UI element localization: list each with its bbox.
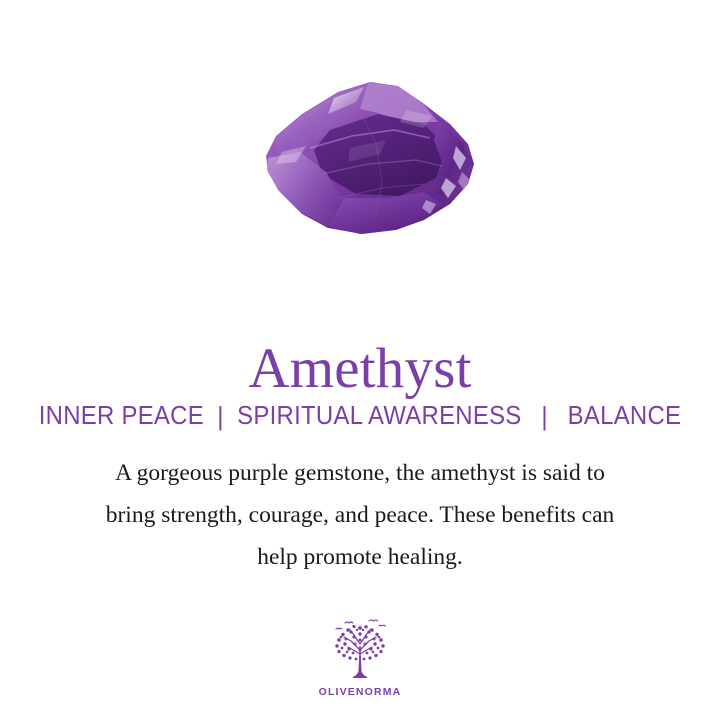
keyword-strip: INNER PEACE | SPIRITUAL AWARENESS | BALA… [29, 400, 691, 430]
tree-of-life-icon [324, 616, 396, 684]
amethyst-crystal-illustration [210, 52, 510, 252]
keyword-spiritual-awareness: SPIRITUAL AWARENESS [237, 400, 521, 430]
keyword-separator-2: | [528, 401, 560, 431]
keyword-balance: BALANCE [568, 400, 682, 430]
description-text: A gorgeous purple gemstone, the amethyst… [50, 452, 670, 578]
keyword-inner-peace: INNER PEACE [39, 400, 204, 430]
page-title: Amethyst [0, 340, 720, 397]
amethyst-info-card: Amethyst INNER PEACE | SPIRITUAL AWARENE… [0, 0, 720, 720]
keyword-separator-1: | [211, 401, 230, 431]
description-line-2: bring strength, courage, and peace. Thes… [50, 494, 670, 536]
description-line-1: A gorgeous purple gemstone, the amethyst… [50, 452, 670, 494]
gemstone-image [0, 52, 720, 267]
description-line-3: help promote healing. [50, 536, 670, 578]
brand-wordmark: OLIVENORMA [319, 686, 402, 698]
facet-bottom [328, 192, 442, 234]
brand-logo: OLIVENORMA [0, 616, 720, 698]
